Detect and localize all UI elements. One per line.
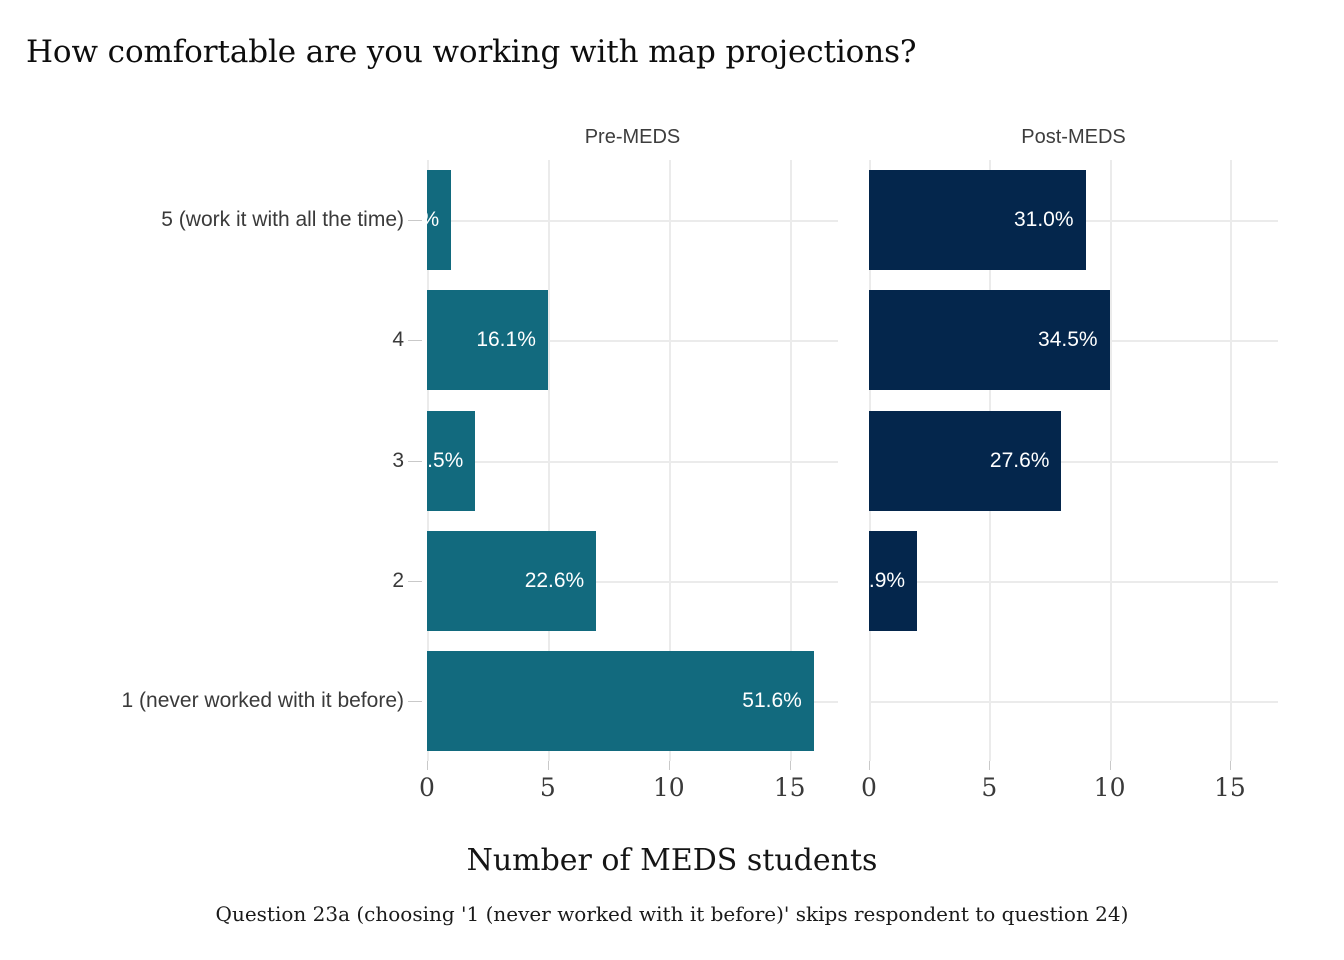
bar-value-label: 3.2% (427, 208, 451, 232)
bar-value-label: 27.6% (990, 449, 1062, 473)
bar-row: 31.0% (869, 170, 1278, 270)
facet-title-post: Post-MEDS (869, 126, 1278, 149)
bar-value-label: 6.5% (427, 449, 475, 473)
x-tick-mark (1110, 761, 1111, 770)
x-tick-label: 5 (981, 773, 997, 802)
x-tick-mark (548, 761, 549, 770)
x-axis-post: 051015 (869, 761, 1278, 811)
bar[interactable]: 6.5% (427, 411, 475, 511)
bar-row: 27.6% (869, 411, 1278, 511)
y-tick-mark (408, 220, 422, 221)
bar-row: 3.2% (427, 170, 838, 270)
x-tick-mark (427, 761, 428, 770)
x-tick-mark (869, 761, 870, 770)
y-tick-label: 5 (work it with all the time) (0, 208, 404, 232)
bar[interactable]: 51.6% (427, 651, 814, 751)
bar-row: 6.9% (869, 531, 1278, 631)
x-tick-label: 10 (1094, 773, 1126, 802)
x-tick-label: 10 (653, 773, 685, 802)
bar[interactable]: 27.6% (869, 411, 1061, 511)
bar[interactable]: 34.5% (869, 290, 1110, 390)
x-tick-mark (669, 761, 670, 770)
x-tick-mark (989, 761, 990, 770)
bar-value-label: 22.6% (525, 569, 597, 593)
bar[interactable]: 16.1% (427, 290, 548, 390)
bar-value-label: 16.1% (476, 328, 548, 352)
facet-title-pre: Pre-MEDS (427, 126, 838, 149)
bar-row: 16.1% (427, 290, 838, 390)
chart-caption: Question 23a (choosing '1 (never worked … (0, 902, 1344, 926)
bar-value-label: 51.6% (742, 689, 814, 713)
bar-row: 22.6% (427, 531, 838, 631)
x-tick-label: 0 (419, 773, 435, 802)
bar-value-label: 34.5% (1038, 328, 1110, 352)
bar-row: 0.0% (869, 651, 1278, 751)
y-tick-mark (408, 581, 422, 582)
y-tick-mark (408, 461, 422, 462)
bar-value-label: 31.0% (1014, 208, 1086, 232)
bar-row: 51.6% (427, 651, 838, 751)
chart-title: How comfortable are you working with map… (26, 34, 916, 70)
plot-panel-pre: 3.2%16.1%6.5%22.6%51.6% (427, 160, 838, 761)
plot-panel-post: 31.0%34.5%27.6%6.9%0.0% (869, 160, 1278, 761)
bar-row: 34.5% (869, 290, 1278, 390)
bar-value-label: 6.9% (869, 569, 917, 593)
bar-row: 6.5% (427, 411, 838, 511)
bar[interactable]: 3.2% (427, 170, 451, 270)
y-tick-label: 3 (0, 449, 404, 473)
x-tick-mark (1230, 761, 1231, 770)
x-axis-title: Number of MEDS students (0, 843, 1344, 878)
bar[interactable]: 22.6% (427, 531, 596, 631)
x-tick-label: 0 (861, 773, 877, 802)
y-axis: 5 (work it with all the time)4321 (never… (0, 160, 404, 761)
y-tick-label: 1 (never worked with it before) (0, 689, 404, 713)
y-tick-mark (408, 701, 422, 702)
bar[interactable]: 31.0% (869, 170, 1086, 270)
y-tick-mark (408, 340, 422, 341)
y-tick-label: 4 (0, 328, 404, 352)
x-tick-mark (790, 761, 791, 770)
x-tick-label: 15 (1214, 773, 1246, 802)
x-tick-label: 15 (774, 773, 806, 802)
x-tick-label: 5 (540, 773, 556, 802)
y-tick-label: 2 (0, 569, 404, 593)
x-axis-pre: 051015 (427, 761, 838, 811)
bar[interactable]: 6.9% (869, 531, 917, 631)
